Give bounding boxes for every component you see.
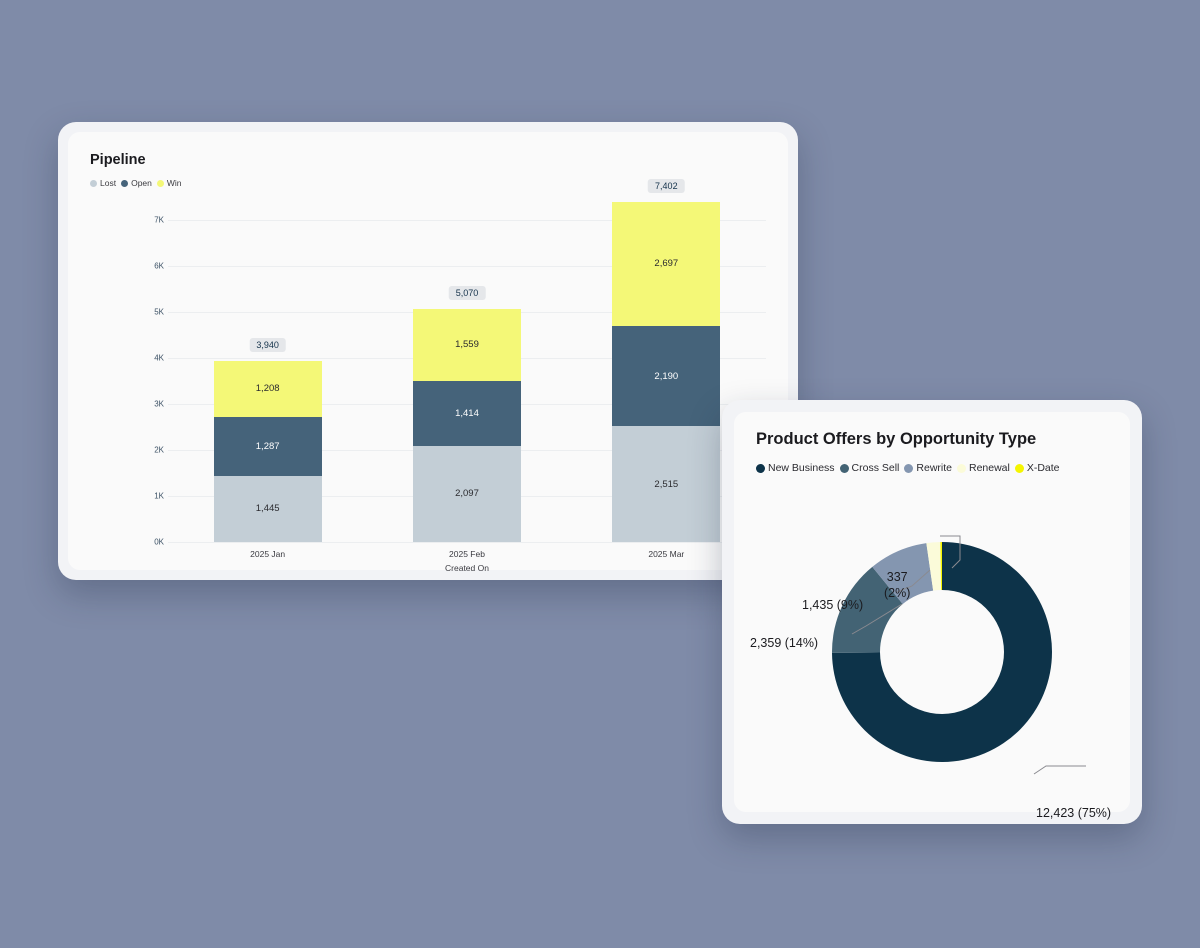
legend-swatch-icon xyxy=(90,180,97,187)
donut-callout-new-business: 12,423 (75%) xyxy=(1036,806,1111,820)
bar-segment-win[interactable]: 1,559 xyxy=(413,309,521,381)
y-axis-tick-label: 4K xyxy=(146,354,164,363)
pipeline-title: Pipeline xyxy=(90,152,146,168)
x-axis-category-label: 2025 Feb xyxy=(449,549,485,559)
y-axis-tick-label: 7K xyxy=(146,216,164,225)
bar-segment-win[interactable]: 2,697 xyxy=(612,202,720,326)
legend-swatch-icon xyxy=(756,464,765,473)
y-axis-tick-label: 3K xyxy=(146,400,164,409)
y-axis-tick-label: 1K xyxy=(146,492,164,501)
donut-callout-renewal: 337 (2%) xyxy=(884,570,910,601)
x-axis-category-label: 2025 Mar xyxy=(648,549,684,559)
legend-label: New Business xyxy=(768,462,835,474)
donut-callout-renewal-percent: (2%) xyxy=(884,586,910,602)
legend-swatch-icon xyxy=(121,180,128,187)
donut-legend-item-x-date[interactable]: X-Date xyxy=(1015,462,1060,474)
pipeline-card-frame: Pipeline LostOpenWin 0K1K2K3K4K5K6K7K 1,… xyxy=(58,122,798,580)
bar-stack[interactable]: 1,5591,4142,0975,070 xyxy=(413,309,521,542)
pipeline-legend-item-win[interactable]: Win xyxy=(157,178,182,188)
bar-total-label: 7,402 xyxy=(648,179,685,193)
legend-label: Win xyxy=(167,178,182,188)
bar-segment-win[interactable]: 1,208 xyxy=(214,361,322,416)
donut-legend-item-rewrite[interactable]: Rewrite xyxy=(904,462,952,474)
bar-column-2025-feb: 1,5591,4142,0975,0702025 Feb xyxy=(367,202,566,542)
legend-swatch-icon xyxy=(157,180,164,187)
bar-segment-lost[interactable]: 2,097 xyxy=(413,446,521,542)
y-axis-tick-label: 5K xyxy=(146,308,164,317)
bar-total-label: 3,940 xyxy=(249,338,286,352)
bar-segment-open[interactable]: 1,414 xyxy=(413,381,521,446)
legend-swatch-icon xyxy=(957,464,966,473)
legend-swatch-icon xyxy=(840,464,849,473)
legend-label: Lost xyxy=(100,178,116,188)
legend-label: Rewrite xyxy=(916,462,952,474)
pipeline-legend[interactable]: LostOpenWin xyxy=(90,178,182,188)
legend-label: X-Date xyxy=(1027,462,1060,474)
donut-legend-item-cross-sell[interactable]: Cross Sell xyxy=(840,462,900,474)
legend-label: Cross Sell xyxy=(852,462,900,474)
donut-leader-line-new-business xyxy=(1034,766,1086,774)
bar-columns: 1,2081,2871,4453,9402025 Jan1,5591,4142,… xyxy=(168,202,766,542)
y-axis-tick-label: 0K xyxy=(146,538,164,547)
bar-segment-lost[interactable]: 2,515 xyxy=(612,426,720,542)
bar-segment-lost[interactable]: 1,445 xyxy=(214,476,322,542)
product-offers-card[interactable]: Product Offers by Opportunity Type New B… xyxy=(734,412,1130,812)
bar-total-label: 5,070 xyxy=(449,286,486,300)
donut-legend-item-renewal[interactable]: Renewal xyxy=(957,462,1010,474)
gridline xyxy=(168,542,766,543)
bar-stack[interactable]: 1,2081,2871,4453,940 xyxy=(214,361,322,542)
bar-segment-open[interactable]: 2,190 xyxy=(612,326,720,427)
donut-card-frame: Product Offers by Opportunity Type New B… xyxy=(722,400,1142,824)
pipeline-legend-item-open[interactable]: Open xyxy=(121,178,152,188)
pipeline-chart-card[interactable]: Pipeline LostOpenWin 0K1K2K3K4K5K6K7K 1,… xyxy=(68,132,788,570)
bar-stack[interactable]: 2,6972,1902,5157,402 xyxy=(612,202,720,542)
legend-swatch-icon xyxy=(1015,464,1024,473)
y-axis-tick-label: 6K xyxy=(146,262,164,271)
legend-label: Renewal xyxy=(969,462,1010,474)
donut-title: Product Offers by Opportunity Type xyxy=(756,430,1036,449)
donut-legend-item-new-business[interactable]: New Business xyxy=(756,462,835,474)
pipeline-legend-item-lost[interactable]: Lost xyxy=(90,178,116,188)
bar-column-2025-jan: 1,2081,2871,4453,9402025 Jan xyxy=(168,202,367,542)
x-axis-category-label: 2025 Jan xyxy=(250,549,285,559)
x-axis-title: Created On xyxy=(168,563,766,573)
donut-legend[interactable]: New BusinessCross SellRewriteRenewalX-Da… xyxy=(756,462,1060,474)
y-axis-tick-label: 2K xyxy=(146,446,164,455)
legend-swatch-icon xyxy=(904,464,913,473)
bar-segment-open[interactable]: 1,287 xyxy=(214,417,322,476)
donut-plot-area: 12,423 (75%) 2,359 (14%) 1,435 (9%) 337 … xyxy=(734,484,1130,804)
donut-callout-cross-sell: 2,359 (14%) xyxy=(750,636,818,650)
donut-callout-rewrite: 1,435 (9%) xyxy=(802,598,863,612)
legend-label: Open xyxy=(131,178,152,188)
donut-callout-renewal-value: 337 xyxy=(884,570,910,586)
pipeline-plot-area: 0K1K2K3K4K5K6K7K 1,2081,2871,4453,940202… xyxy=(146,202,766,542)
